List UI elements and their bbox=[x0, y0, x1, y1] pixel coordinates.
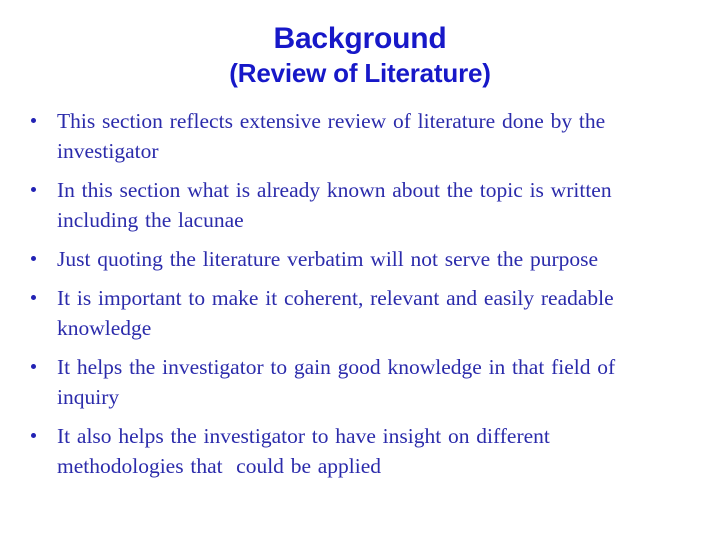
list-item-text: It also helps the investigator to have i… bbox=[57, 421, 674, 481]
list-item: This section reflects extensive review o… bbox=[26, 106, 674, 166]
list-item: It helps the investigator to gain good k… bbox=[26, 352, 674, 412]
list-item-text: It helps the investigator to gain good k… bbox=[57, 352, 674, 412]
presentation-slide: Background (Review of Literature) This s… bbox=[0, 0, 720, 540]
bullet-dot-icon bbox=[31, 187, 36, 192]
list-item-text: It is important to make it coherent, rel… bbox=[57, 283, 674, 343]
bullet-list: This section reflects extensive review o… bbox=[26, 106, 674, 481]
list-item: It also helps the investigator to have i… bbox=[26, 421, 674, 481]
bullet-dot-icon bbox=[31, 118, 36, 123]
slide-subtitle: (Review of Literature) bbox=[0, 57, 720, 89]
list-item: Just quoting the literature verbatim wil… bbox=[26, 244, 674, 274]
bullet-dot-icon bbox=[31, 433, 36, 438]
list-item: It is important to make it coherent, rel… bbox=[26, 283, 674, 343]
bullet-dot-icon bbox=[31, 295, 36, 300]
list-item-text: In this section what is already known ab… bbox=[57, 175, 674, 235]
list-item-text: This section reflects extensive review o… bbox=[57, 106, 674, 166]
bullet-dot-icon bbox=[31, 256, 36, 261]
slide-title-block: Background (Review of Literature) bbox=[0, 21, 720, 89]
list-item: In this section what is already known ab… bbox=[26, 175, 674, 235]
bullet-dot-icon bbox=[31, 364, 36, 369]
slide-title: Background bbox=[0, 21, 720, 56]
list-item-text: Just quoting the literature verbatim wil… bbox=[57, 244, 674, 274]
